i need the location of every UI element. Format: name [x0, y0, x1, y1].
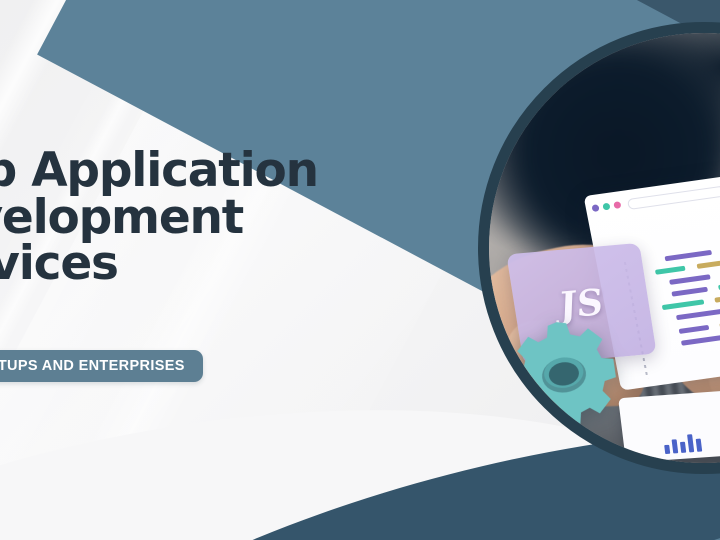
chart-bar: [671, 439, 678, 453]
status-badge: FOR STARTUPS AND ENTERPRISES: [0, 350, 203, 382]
analytics-chart-card: [618, 390, 720, 462]
page-title: Web Application Development Services: [0, 148, 444, 288]
headline-line-2: Development: [0, 195, 444, 242]
headline-block: Web Application Development Services: [0, 148, 444, 288]
code-line: [676, 307, 720, 319]
hero-photo-medallion: JS: [478, 22, 720, 474]
code-line: [681, 334, 720, 345]
banner-hero: JS Web Application Development Services …: [0, 0, 720, 540]
browser-dot-2-icon: [602, 203, 610, 211]
browser-dot-3-icon: [613, 201, 621, 209]
code-line: [655, 265, 685, 274]
code-line: [679, 324, 709, 333]
code-line: [669, 274, 711, 285]
headline-line-3: Services: [0, 241, 444, 288]
chart-bar: [687, 434, 694, 452]
chart-bar: [664, 445, 670, 454]
hero-photo: JS: [489, 33, 720, 463]
gear-icon: [499, 309, 630, 440]
code-line: [662, 299, 704, 310]
browser-dot-1-icon: [591, 204, 599, 212]
code-line: [671, 286, 707, 296]
chart-bar: [695, 438, 702, 451]
code-line: [664, 250, 712, 261]
chart-bar: [680, 441, 686, 452]
